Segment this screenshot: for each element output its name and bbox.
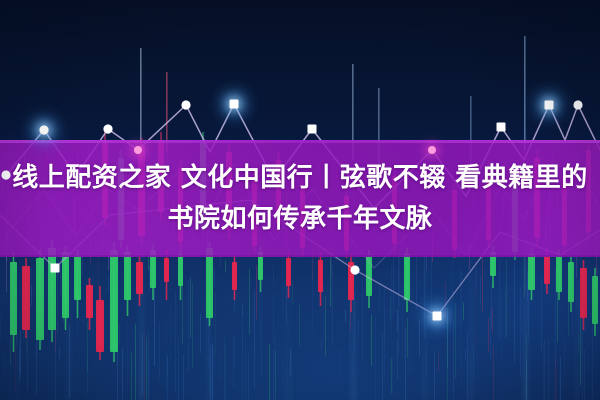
headline-line-2: 书院如何传承千年文脉 [0, 199, 600, 240]
headline: 线上配资之家 文化中国行丨弦歌不辍 看典籍里的 书院如何传承千年文脉 [0, 158, 600, 240]
banner-image: 线上配资之家 文化中国行丨弦歌不辍 看典籍里的 书院如何传承千年文脉 [0, 0, 600, 400]
headline-line-1: 线上配资之家 文化中国行丨弦歌不辍 看典籍里的 [0, 158, 600, 199]
